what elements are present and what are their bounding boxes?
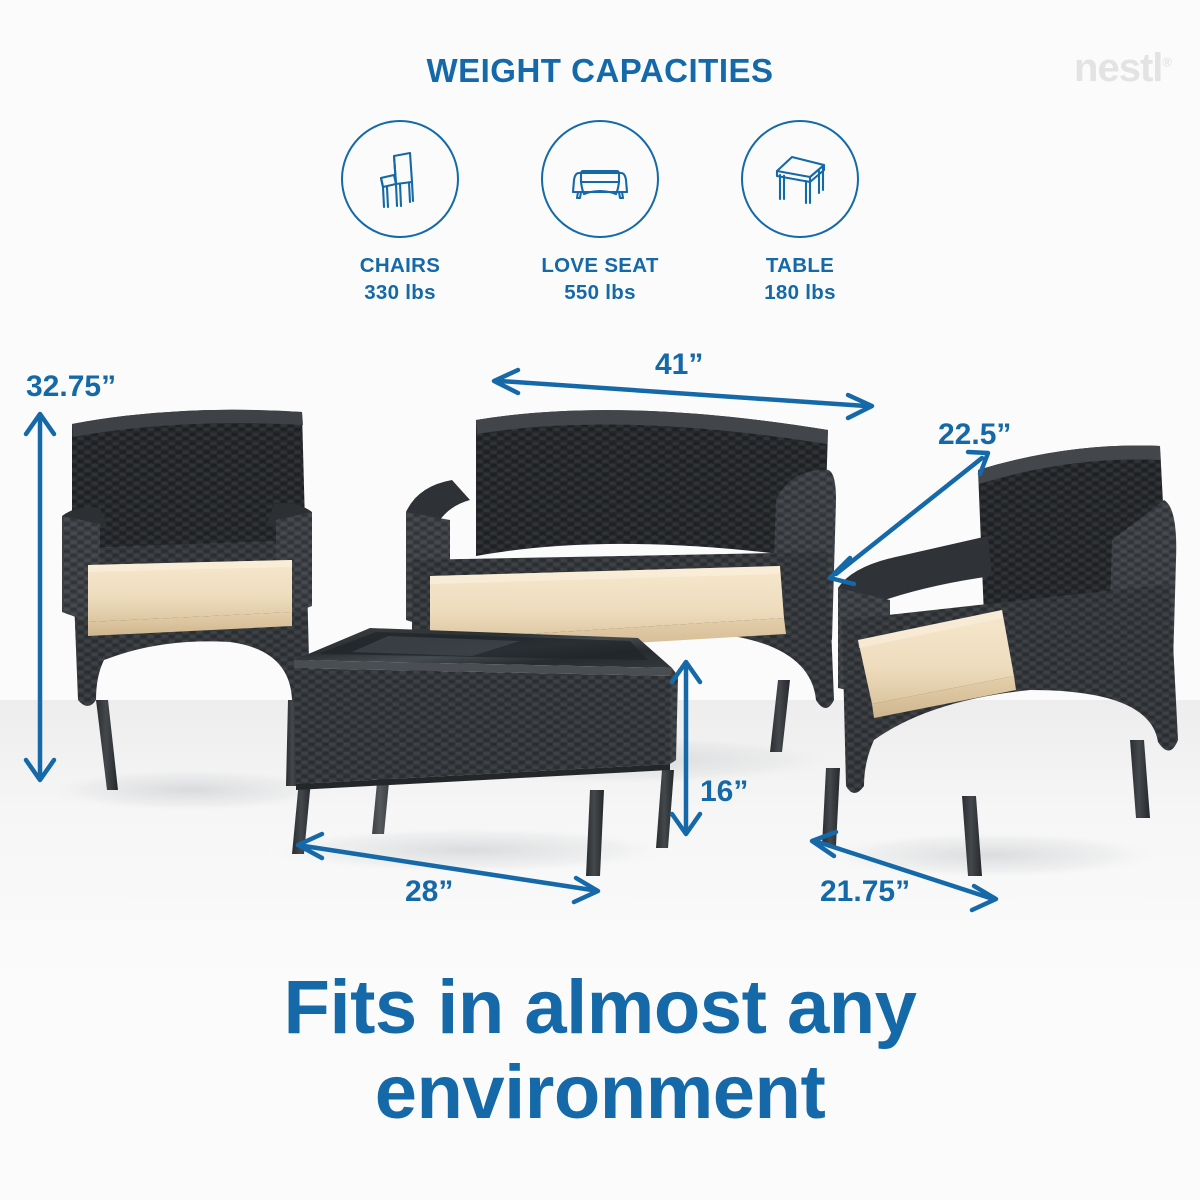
- dimension-label-chair-width: 21.75”: [820, 875, 910, 909]
- table-icon: [741, 120, 859, 238]
- dimension-label-loveseat-depth: 22.5”: [938, 418, 1011, 452]
- capacity-item-love-seat: LOVE SEAT 550 lbs: [520, 120, 680, 320]
- loveseat-icon: [541, 120, 659, 238]
- product-infographic: nestl® WEIGHT CAPACITIES CHAIRS: [0, 0, 1200, 1200]
- capacity-label: CHAIRS: [320, 254, 480, 278]
- dimension-label-loveseat-width: 41”: [655, 348, 703, 382]
- dimension-label-table-height: 16”: [700, 775, 748, 809]
- capacity-value: 180 lbs: [720, 281, 880, 305]
- weight-capacity-row: CHAIRS 330 lbs LOVE SEAT 550 lbs: [320, 120, 880, 320]
- capacity-label: LOVE SEAT: [520, 254, 680, 278]
- chair-icon: [341, 120, 459, 238]
- capacity-value: 330 lbs: [320, 281, 480, 305]
- capacity-label: TABLE: [720, 254, 880, 278]
- capacity-item-table: TABLE 180 lbs: [720, 120, 880, 320]
- dimension-label-table-width: 28”: [405, 875, 453, 909]
- tagline: Fits in almost any environment: [0, 965, 1200, 1135]
- dimension-label-chair-height: 32.75”: [26, 370, 116, 404]
- page-title: WEIGHT CAPACITIES: [0, 52, 1200, 90]
- capacity-value: 550 lbs: [520, 281, 680, 305]
- tagline-line-2: environment: [0, 1050, 1200, 1135]
- tagline-line-1: Fits in almost any: [0, 965, 1200, 1050]
- capacity-item-chairs: CHAIRS 330 lbs: [320, 120, 480, 320]
